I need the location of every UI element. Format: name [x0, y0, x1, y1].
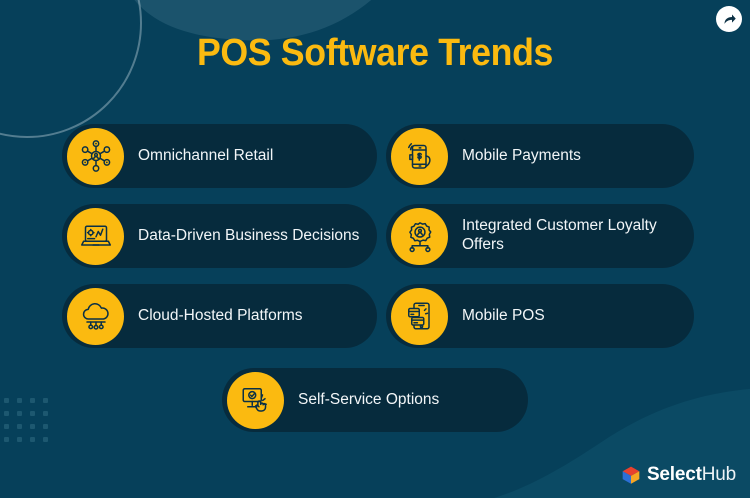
trend-card-label: Integrated Customer Loyalty Offers — [462, 217, 694, 255]
selecthub-cube-icon — [621, 465, 641, 485]
trend-card-label: Mobile POS — [462, 307, 555, 326]
trend-card-integrated-customer-loyalty-offers[interactable]: Integrated Customer Loyalty Offers — [386, 204, 694, 268]
trend-card-mobile-pos[interactable]: Mobile POS — [386, 284, 694, 348]
hand-phone-dollar-icon — [402, 138, 438, 174]
brand-name-bold: Select — [647, 464, 702, 485]
trend-card-mobile-payments[interactable]: Mobile Payments — [386, 124, 694, 188]
card-icon-wrapper — [391, 208, 448, 265]
kiosk-touch-icon — [238, 382, 274, 418]
card-icon-wrapper — [67, 128, 124, 185]
trend-card-label: Data-Driven Business Decisions — [138, 227, 369, 246]
trend-card-label: Omnichannel Retail — [138, 147, 283, 166]
trend-card-omnichannel-retail[interactable]: Omnichannel Retail — [62, 124, 377, 188]
network-hub-icon — [78, 138, 114, 174]
cloud-network-icon — [78, 298, 114, 334]
trend-card-label: Cloud-Hosted Platforms — [138, 307, 313, 326]
trend-card-data-driven-business-decisions[interactable]: Data-Driven Business Decisions — [62, 204, 377, 268]
selecthub-logo[interactable]: SelectHub — [621, 464, 736, 486]
trend-card-cloud-hosted-platforms[interactable]: Cloud-Hosted Platforms — [62, 284, 377, 348]
share-button[interactable] — [716, 6, 742, 32]
infographic-canvas: POS Software Trends — [0, 0, 750, 498]
trend-card-label: Self-Service Options — [298, 391, 449, 410]
selecthub-wordmark: SelectHub — [647, 464, 736, 486]
card-icon-wrapper — [67, 288, 124, 345]
trend-card-label: Mobile Payments — [462, 147, 591, 166]
card-icon-wrapper — [391, 288, 448, 345]
brand-name-light: Hub — [702, 464, 736, 485]
gear-customer-icon — [402, 218, 438, 254]
laptop-analytics-icon — [78, 218, 114, 254]
share-arrow-icon — [722, 12, 737, 27]
trend-card-self-service-options[interactable]: Self-Service Options — [222, 368, 528, 432]
card-icon-wrapper — [227, 372, 284, 429]
card-icon-wrapper — [67, 208, 124, 265]
card-icon-wrapper — [391, 128, 448, 185]
tablet-card-reader-icon — [402, 298, 438, 334]
trends-card-grid: Omnichannel Retail Mobile Payments — [0, 0, 750, 498]
